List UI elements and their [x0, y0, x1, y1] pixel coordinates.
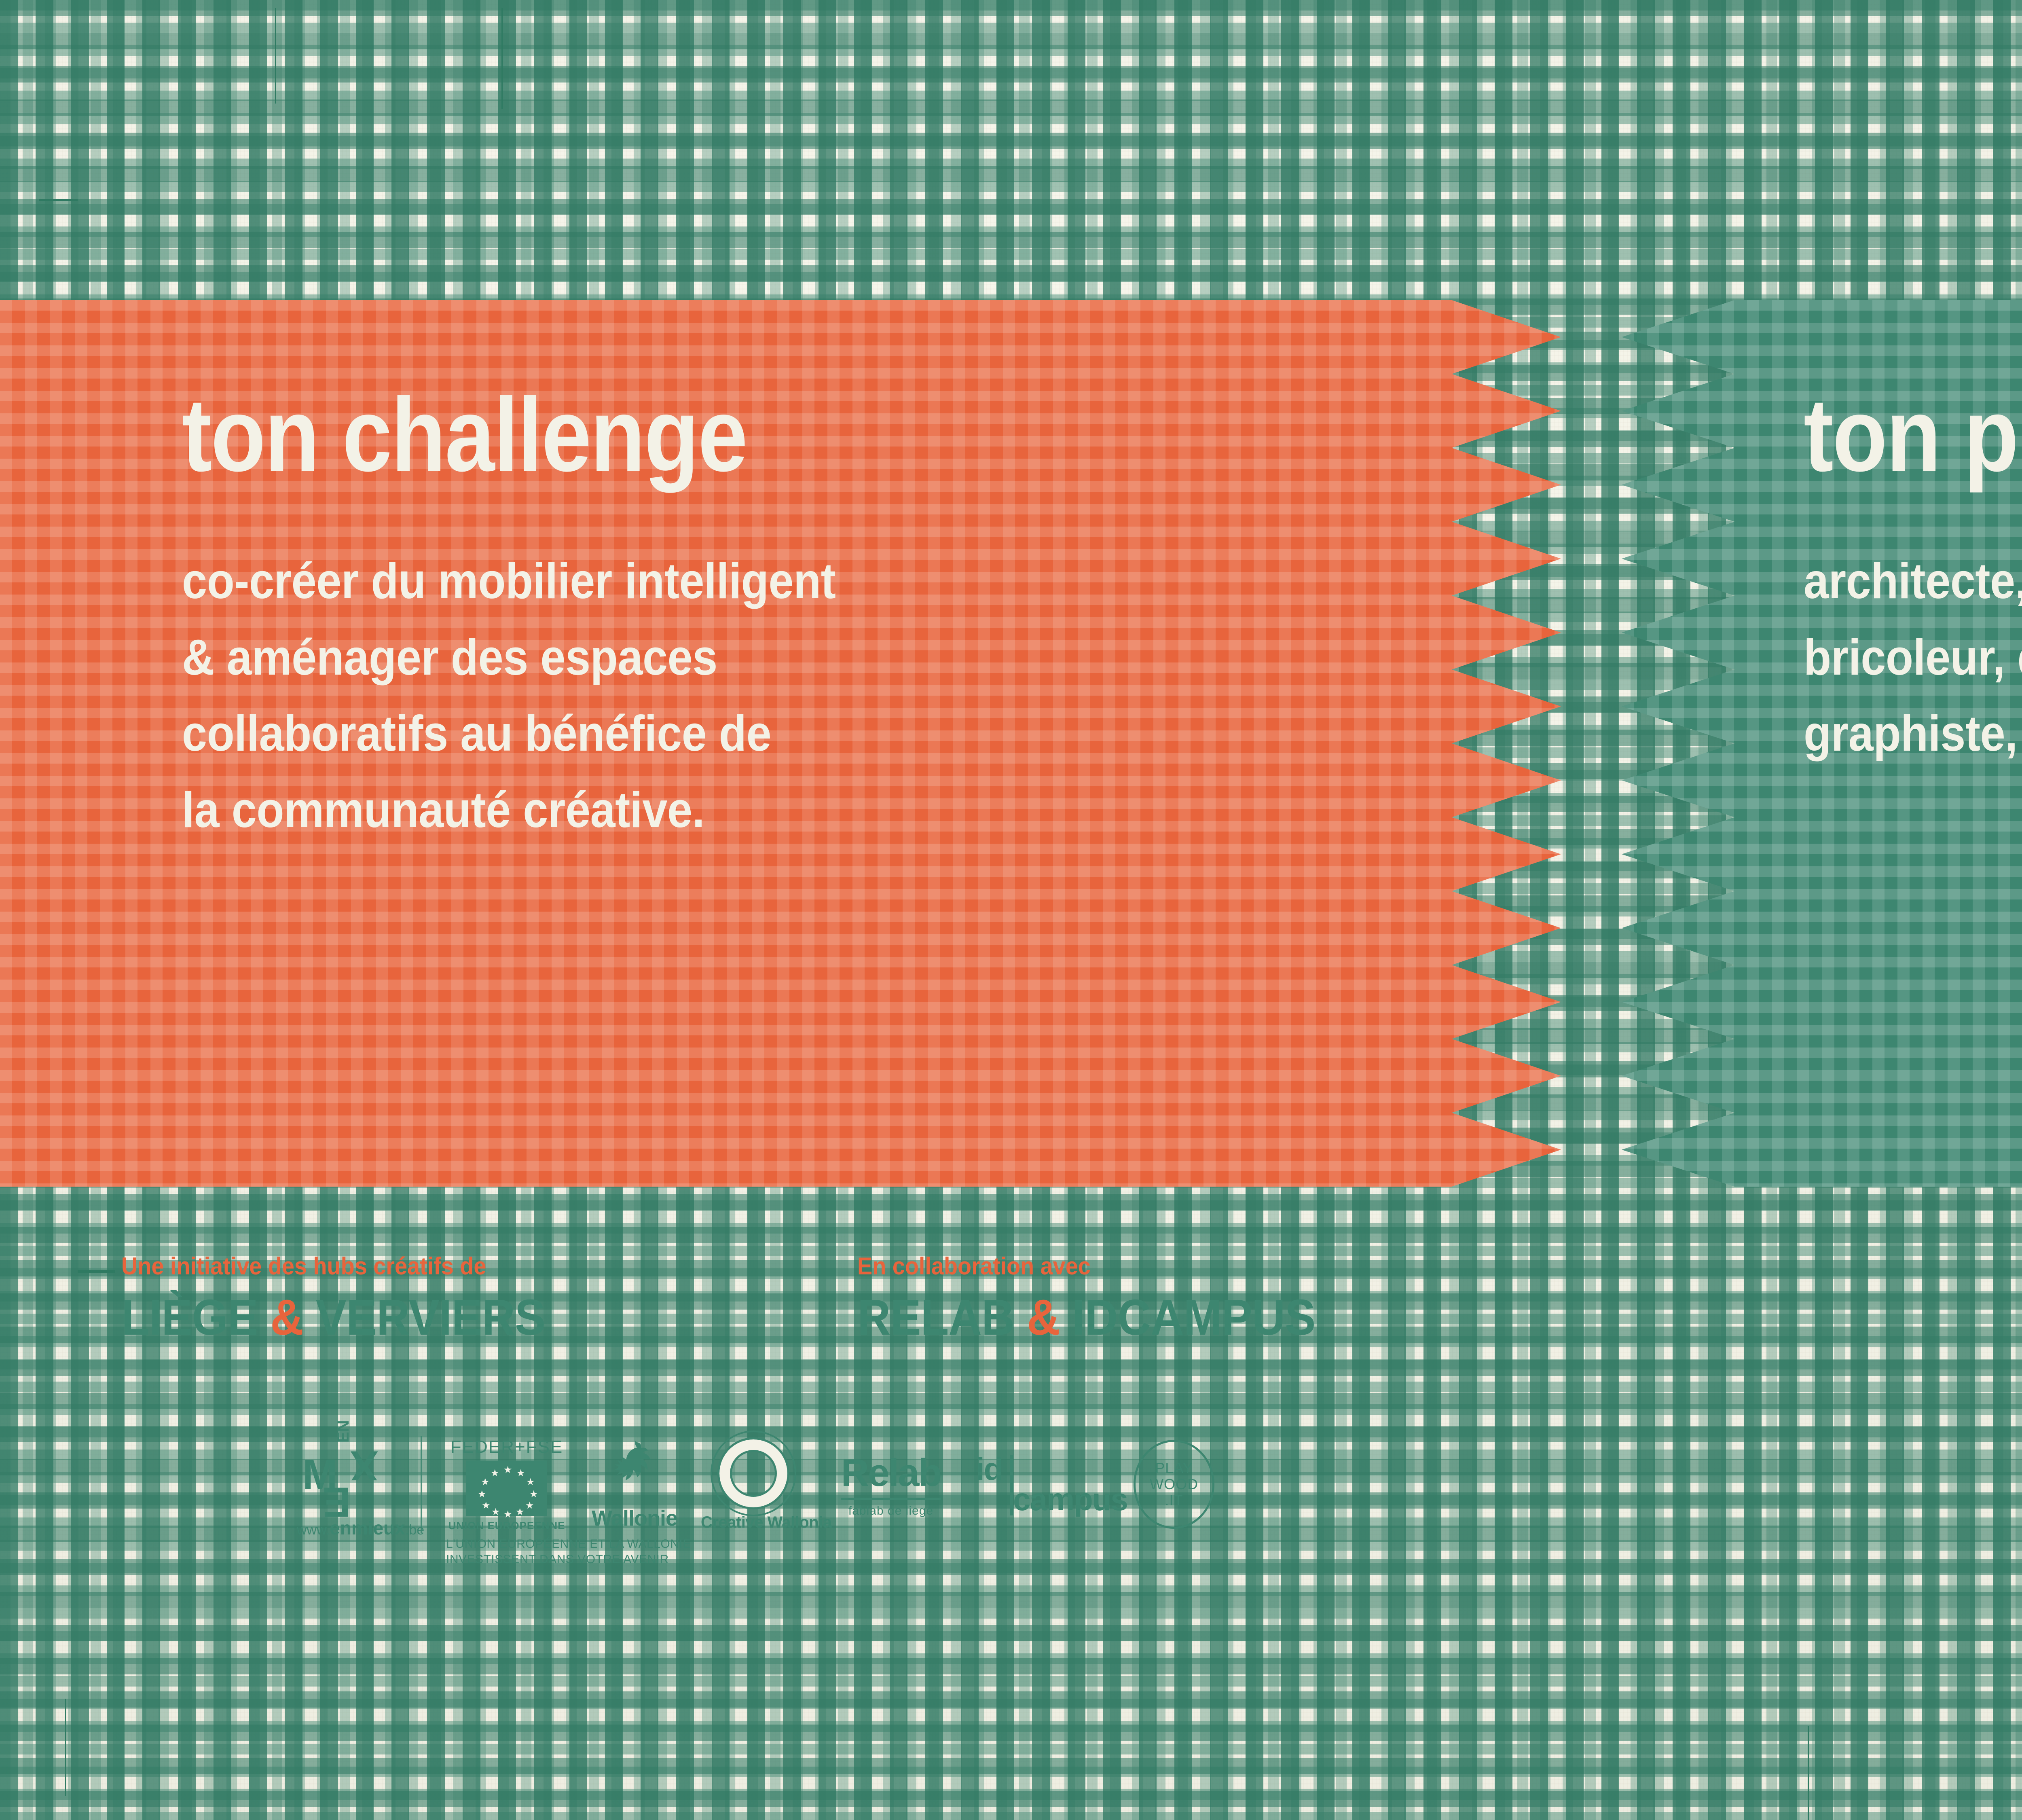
enmieux-url-name: enmieux: [330, 1517, 405, 1539]
challenge-body: co-créer du mobilier intelligent & aména…: [182, 543, 1423, 848]
enmieux-logo: M EN X E www.enmieux.be: [299, 1438, 396, 1531]
idcampus-logo: id campus: [976, 1451, 1109, 1518]
relab-label: Relab: [841, 1451, 941, 1500]
partner-logo-strip: M EN X E www.enmieux.be FEDER+FSE ★ ★ ★ …: [299, 1424, 1214, 1545]
collaboration-amp: &: [1027, 1290, 1060, 1346]
accent-tick: [275, 8, 276, 104]
eu-subtext: L'UNION EUROPÉENNE ET LA WALLONIE INVEST…: [446, 1536, 753, 1568]
creative-wallonia-logo: Creative Wallonia: [701, 1437, 806, 1532]
dash-icon: [78, 1270, 115, 1273]
eu-flag-icon: ★ ★ ★ ★ ★ ★ ★ ★ ★ ★ ★ ★: [466, 1460, 547, 1516]
idcampus-bottom-label: campus: [1013, 1481, 1109, 1518]
enmieux-url-prefix: www.: [297, 1522, 330, 1538]
profil-heading: ton profil: [1804, 387, 2022, 483]
profil-line: graphiste, ingénieur, menuisier, ...: [1804, 696, 2022, 772]
playwood-line1: PLAY: [1155, 1460, 1193, 1476]
enmieux-letter-en: EN: [336, 1420, 351, 1443]
credit-collaboration: En collaboration avec RELAB & IDCAMPUS: [857, 1252, 1355, 1346]
eu-caption: UNION EUROPEENNE: [446, 1519, 567, 1532]
relab-subtitle: fablab de liege: [830, 1504, 952, 1518]
credit-initiative: Une initiative des hubs créatifs de LIÈG…: [121, 1252, 582, 1346]
european-union-logo: FEDER+FSE ★ ★ ★ ★ ★ ★ ★ ★ ★ ★ ★ ★ UNION …: [446, 1437, 567, 1532]
rooster-icon: [592, 1438, 677, 1504]
profil-line: architecte, artiste, bidouilleur,: [1804, 543, 2022, 619]
playwood-logo: PLAY WOOD .IT: [1134, 1440, 1214, 1529]
collaboration-name-second: IDCAMPUS: [1072, 1290, 1315, 1346]
collaboration-name-first: RELAB: [857, 1290, 1014, 1346]
panel-challenge-content: ton challenge co-créer du mobilier intel…: [0, 300, 1561, 848]
initiative-names: LIÈGE & VERVIERS: [121, 1289, 545, 1346]
collaboration-kicker: En collaboration avec: [857, 1252, 1320, 1280]
initiative-amp: &: [270, 1290, 303, 1346]
logo-divider: [421, 1436, 422, 1533]
playwood-line3: .IT: [1165, 1492, 1183, 1509]
challenge-line: la communauté créative.: [182, 772, 1423, 848]
profil-body: architecte, artiste, bidouilleur, bricol…: [1804, 543, 2022, 772]
challenge-line: & aménager des espaces: [182, 620, 1423, 696]
eu-feder-fse-label: FEDER+FSE: [446, 1437, 567, 1457]
initiative-kicker: Une initiative des hubs créatifs de: [121, 1252, 550, 1280]
idcampus-divider-bar: [1010, 1455, 1013, 1515]
eu-subtext-line1: L'UNION EUROPÉENNE ET LA WALLONIE: [446, 1536, 753, 1552]
wallonie-label: Wallonie: [592, 1506, 677, 1531]
accent-tick: [65, 1699, 66, 1796]
poster-canvas: ton challenge co-créer du mobilier intel…: [0, 0, 2022, 1820]
panel-ton-profil: ton profil architecte, artiste, bidouill…: [1622, 300, 2022, 1187]
initiative-name-second: VERVIERS: [316, 1290, 545, 1346]
collaboration-names: RELAB & IDCAMPUS: [857, 1289, 1315, 1346]
enmieux-letter-x: X: [352, 1447, 378, 1484]
challenge-line: collaboratifs au bénéfice de: [182, 696, 1423, 772]
panel-ton-challenge: ton challenge co-créer du mobilier intel…: [0, 300, 1561, 1187]
challenge-heading: ton challenge: [182, 387, 1368, 483]
accent-tick: [39, 199, 78, 201]
accent-tick: [1808, 1726, 1809, 1820]
initiative-name-first: LIÈGE: [121, 1290, 258, 1346]
relab-logo: Relab fablab de liege: [830, 1451, 952, 1518]
panel-profil-content: ton profil architecte, artiste, bidouill…: [1622, 300, 2022, 772]
enmieux-url: www.enmieux.be: [297, 1517, 424, 1539]
wallonie-logo: Wallonie: [592, 1438, 677, 1530]
concentric-rings-icon: [717, 1437, 789, 1509]
accent-tick: [501, 8, 503, 109]
challenge-line: co-créer du mobilier intelligent: [182, 543, 1423, 619]
playwood-line2: WOOD: [1150, 1476, 1198, 1492]
profil-line: bricoleur, designer, ébéniste,: [1804, 620, 2022, 696]
eu-subtext-line2: INVESTISSENT DANS VOTRE AVENIR: [446, 1552, 753, 1567]
enmieux-letter-e: E: [324, 1483, 351, 1520]
